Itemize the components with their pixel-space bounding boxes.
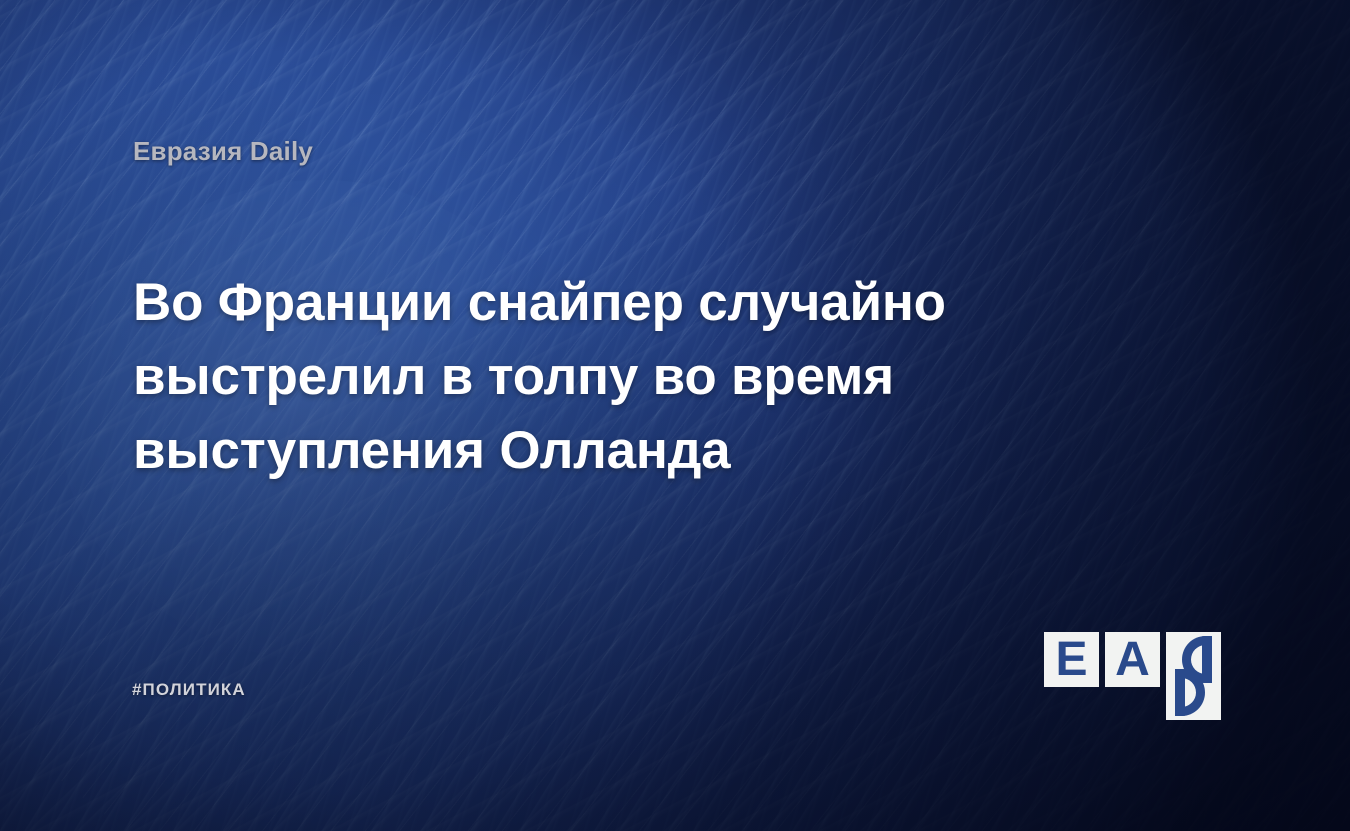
card-content: Евразия Daily Во Франции снайпер случайн… (0, 0, 1350, 831)
news-card: Евразия Daily Во Франции снайпер случайн… (0, 0, 1350, 831)
logo-tile-e: E (1044, 632, 1099, 687)
logo-letter-e: E (1044, 632, 1099, 687)
half-d-glyph (1175, 669, 1205, 716)
logo-d-mark-lower-icon (1166, 665, 1221, 720)
logo-tile-a: A (1105, 632, 1160, 687)
eadaily-logo: E A (1044, 632, 1222, 720)
logo-letter-a: A (1105, 632, 1160, 687)
page-title: Во Франции снайпер случайно выстрелил в … (133, 266, 993, 488)
category-tag: #ПОЛИТИКА (132, 680, 246, 700)
brand-name: Евразия Daily (133, 136, 313, 167)
